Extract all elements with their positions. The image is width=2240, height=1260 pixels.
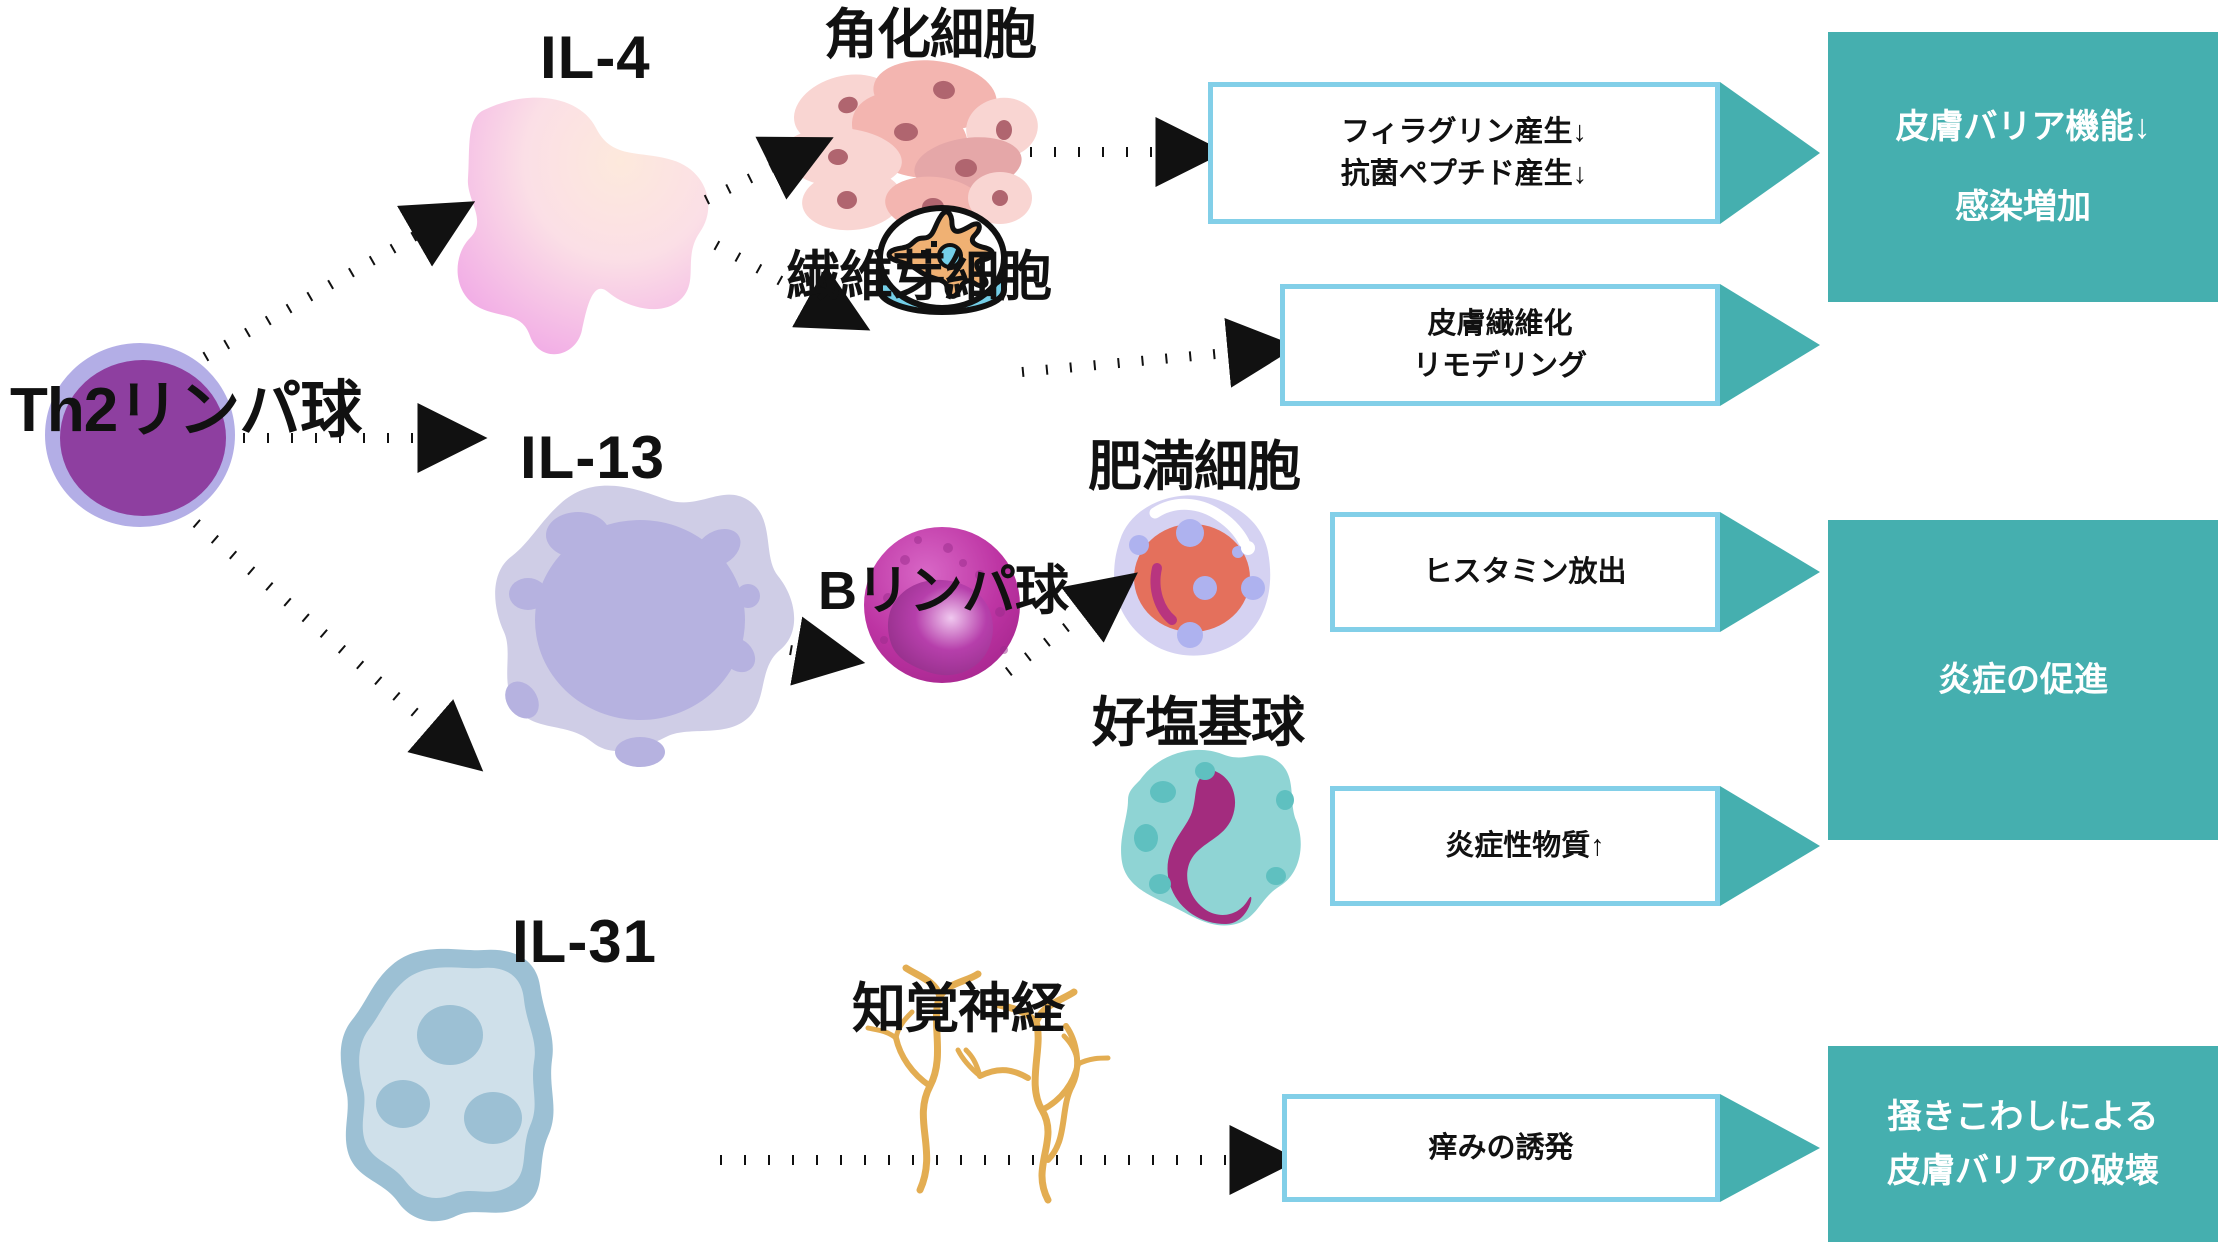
- effect-barrier-line1: フィラグリン産生↓: [1341, 111, 1588, 153]
- effect-fibrosis-chevron: [1720, 284, 1820, 406]
- arrow-il13-to-bcell: [790, 650, 848, 660]
- effect-box-fibrosis: 皮膚繊維化 リモデリング: [1280, 284, 1720, 406]
- effect-box-histamine: ヒスタミン放出: [1330, 512, 1720, 632]
- arrow-fibroblast-to-fibrosis-box: [1022, 348, 1280, 372]
- basophil-label: 好塩基球: [1092, 696, 1304, 750]
- arrow-th2-to-il31: [196, 523, 470, 760]
- sensorynerve-label: 知覚神経: [852, 982, 1064, 1036]
- effect-box-itch: 痒みの誘発: [1282, 1094, 1720, 1202]
- effect-inflammatory-line1: 炎症性物質↑: [1445, 825, 1605, 867]
- outcome-barrier-line2: 感染増加: [1955, 180, 2091, 234]
- il31-cell-graphic: [341, 949, 554, 1221]
- effect-fibrosis-line1: 皮膚繊維化: [1413, 303, 1587, 345]
- outcome-scratch-line1: 掻きこわしによる: [1888, 1090, 2159, 1144]
- mastcell-graphic: [1114, 495, 1270, 655]
- outcome-panel-barrier: 皮膚バリア機能↓ 感染増加: [1828, 32, 2218, 302]
- il13-label: IL-13: [520, 428, 665, 488]
- outcome-panel-scratch: 掻きこわしによる 皮膚バリアの破壊: [1828, 1046, 2218, 1242]
- effect-itch-chevron: [1720, 1094, 1820, 1202]
- outcome-barrier-line1: 皮膚バリア機能↓: [1896, 100, 2151, 154]
- il4-cell-graphic: [458, 98, 709, 355]
- effect-box-inflammatory: 炎症性物質↑: [1330, 786, 1720, 906]
- outcome-inflammation-line1: 炎症の促進: [1938, 653, 2108, 707]
- diagram-canvas: Th2リンパ球 IL-4 IL-13 IL-31 角化細胞 繊維芽細胞 Bリンパ…: [0, 0, 2240, 1260]
- il4-label: IL-4: [540, 28, 651, 88]
- effect-barrier-line2: 抗菌ペプチド産生↓: [1341, 153, 1588, 195]
- il13-cell-graphic: [495, 486, 794, 767]
- keratinocyte-graphic: [780, 53, 1043, 238]
- effect-itch-line1: 痒みの誘発: [1428, 1127, 1573, 1169]
- basophil-graphic: [1121, 750, 1301, 926]
- th2-lymphocyte-label: Th2リンパ球: [10, 380, 361, 442]
- mastcell-label: 肥満細胞: [1088, 440, 1300, 494]
- outcome-scratch-line2: 皮膚バリアの破壊: [1887, 1144, 2159, 1198]
- bcell-label: Bリンパ球: [818, 564, 1068, 618]
- effect-histamine-chevron: [1720, 512, 1820, 632]
- arrow-th2-to-il4: [205, 210, 460, 357]
- effect-fibrosis-line2: リモデリング: [1413, 345, 1587, 387]
- outcome-panel-inflammation: 炎症の促進: [1828, 520, 2218, 840]
- fibroblast-label: 繊維芽細胞: [786, 250, 1051, 304]
- il31-label: IL-31: [512, 912, 657, 972]
- effect-inflammatory-chevron: [1720, 786, 1820, 906]
- keratinocyte-label: 角化細胞: [824, 8, 1036, 62]
- effect-box-barrier: フィラグリン産生↓ 抗菌ペプチド産生↓: [1208, 82, 1720, 224]
- effect-barrier-chevron: [1720, 82, 1820, 224]
- effect-histamine-line1: ヒスタミン放出: [1423, 551, 1626, 593]
